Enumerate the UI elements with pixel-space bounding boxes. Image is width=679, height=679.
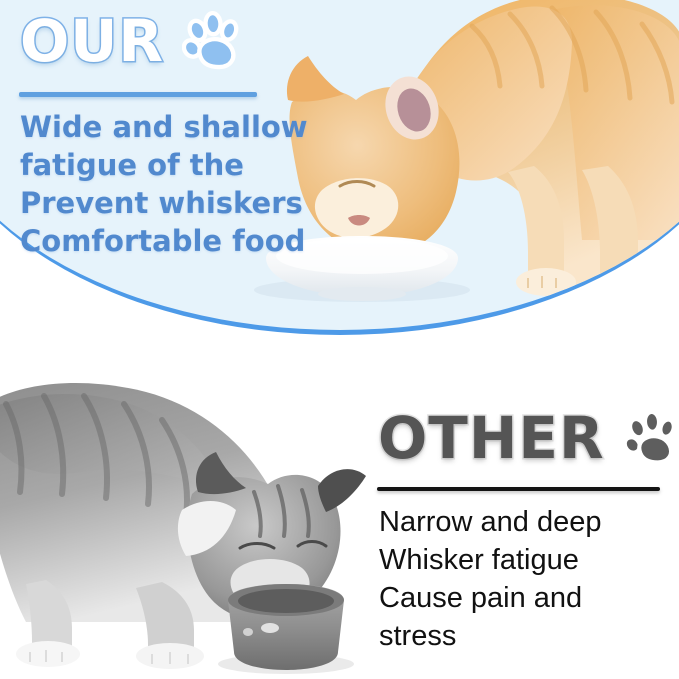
our-divider-rule xyxy=(19,92,257,97)
other-body-text: Narrow and deep Whisker fatigue Cause pa… xyxy=(379,503,601,655)
our-body-text: Wide and shallow fatigue of the Prevent … xyxy=(20,108,308,260)
paw-print-icon xyxy=(182,10,244,72)
our-heading-row: OUR xyxy=(20,10,244,72)
gray-cat-photo xyxy=(0,352,386,679)
comparison-poster: OUR Wide and shallow fatigue of the Prev… xyxy=(0,0,679,679)
paw-print-icon xyxy=(623,409,679,467)
other-heading-row: OTHER xyxy=(378,409,679,467)
our-title: OUR xyxy=(20,12,164,70)
orange-cat-photo xyxy=(252,0,679,310)
other-title: OTHER xyxy=(378,409,605,467)
other-divider-rule xyxy=(377,487,660,491)
